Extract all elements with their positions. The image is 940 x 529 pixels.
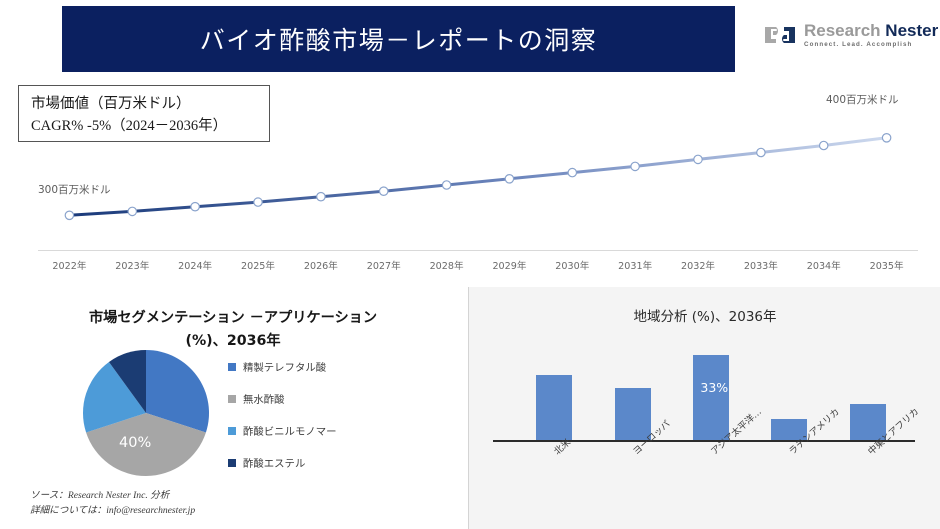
page-title: バイオ酢酸市場－レポートの洞察 xyxy=(200,21,598,57)
bar-chart-x-tick-labels: 北米ヨーロッパアジア太平洋…ラテンアメリカ中東とアフリカ xyxy=(515,443,907,513)
pie-legend-label: 酢酸エステル xyxy=(243,455,305,470)
line-chart-marker xyxy=(65,211,73,219)
line-chart-marker xyxy=(694,155,702,163)
line-chart-x-tick: 2028年 xyxy=(415,258,478,272)
bar-column: 33% xyxy=(693,347,729,440)
bar-data-label: 33% xyxy=(700,380,728,395)
line-chart-x-tick: 2025年 xyxy=(227,258,290,272)
pie-legend-item[interactable]: 精製テレフタル酸 xyxy=(228,359,337,374)
line-chart-x-tick: 2026年 xyxy=(289,258,352,272)
line-chart-x-tick: 2032年 xyxy=(667,258,730,272)
pie-chart-legend: 精製テレフタル酸無水酢酸酢酸ビニルモノマー酢酸エステル xyxy=(228,359,337,470)
line-chart-plot xyxy=(0,85,940,275)
line-chart-marker xyxy=(254,198,262,206)
legend-swatch-icon xyxy=(228,363,236,371)
legend-swatch-icon xyxy=(228,395,236,403)
logo-name: Research Nester xyxy=(804,22,938,39)
line-chart-x-tick: 2030年 xyxy=(541,258,604,272)
line-chart-x-tick: 2035年 xyxy=(855,258,918,272)
line-chart-marker xyxy=(568,168,576,176)
source-line-1: ソース：Research Nester Inc. 分析 xyxy=(30,489,195,504)
bar-chart-plot: 33% xyxy=(515,347,907,440)
pie-legend-item[interactable]: 酢酸ビニルモノマー xyxy=(228,423,337,438)
logo-tagline: Connect. Lead. Accomplish xyxy=(804,42,938,48)
line-chart-marker xyxy=(505,175,513,183)
pie-legend-label: 無水酢酸 xyxy=(243,391,285,406)
line-chart-x-tick: 2022年 xyxy=(38,258,101,272)
line-chart-marker xyxy=(442,181,450,189)
bar xyxy=(536,375,572,440)
pie-legend-item[interactable]: 酢酸エステル xyxy=(228,455,337,470)
line-chart-marker xyxy=(128,207,136,215)
bar-xlabel-cell: 中東とアフリカ xyxy=(850,443,886,513)
line-chart-start-label: 300百万米ドル xyxy=(38,182,111,197)
bar-chart-title: 地域分析 (%)、2036年 xyxy=(469,305,940,325)
source-note: ソース：Research Nester Inc. 分析 詳細については：info… xyxy=(30,489,195,519)
line-chart-x-tick: 2031年 xyxy=(604,258,667,272)
market-value-line-chart xyxy=(0,85,940,275)
bar-xlabel-cell: 北米 xyxy=(536,443,572,513)
line-chart-x-tick-labels: 2022年2023年2024年2025年2026年2027年2028年2029年… xyxy=(38,258,918,272)
regional-analysis-bar-panel: 地域分析 (%)、2036年 33% 北米ヨーロッパアジア太平洋…ラテンアメリカ… xyxy=(468,287,940,529)
line-chart-x-tick: 2023年 xyxy=(101,258,164,272)
logo-text: Research Nester Connect. Lead. Accomplis… xyxy=(804,22,938,48)
line-chart-x-tick: 2024年 xyxy=(164,258,227,272)
header-banner: バイオ酢酸市場－レポートの洞察 xyxy=(62,6,735,72)
pie-chart-title: 市場セグメンテーション －アプリケーション (%)、2036年 xyxy=(28,307,438,354)
pie-slice-data-label: 40% xyxy=(119,435,151,451)
line-chart-x-tick: 2033年 xyxy=(729,258,792,272)
bar-xlabel-cell: アジア太平洋… xyxy=(693,443,729,513)
pie-title-line1: 市場セグメンテーション －アプリケーション xyxy=(89,310,377,326)
source-line-2: 詳細については：info@researchnester.jp xyxy=(30,504,195,519)
line-chart-end-label: 400百万米ドル xyxy=(826,92,899,107)
line-chart-marker xyxy=(191,203,199,211)
line-chart-marker xyxy=(380,187,388,195)
line-chart-x-tick: 2034年 xyxy=(792,258,855,272)
bar-column xyxy=(771,347,807,440)
linked-chain-logo-icon xyxy=(763,22,797,48)
line-chart-marker xyxy=(757,148,765,156)
pie-legend-item[interactable]: 無水酢酸 xyxy=(228,391,337,406)
bar-column xyxy=(536,347,572,440)
pie-legend-label: 酢酸ビニルモノマー xyxy=(243,423,337,438)
slide-canvas: バイオ酢酸市場－レポートの洞察 Research Nester Connect.… xyxy=(0,0,940,529)
line-chart-x-tick: 2029年 xyxy=(478,258,541,272)
line-chart-marker xyxy=(317,193,325,201)
pie-legend-label: 精製テレフタル酸 xyxy=(243,359,326,374)
bar-column xyxy=(615,347,651,440)
bar xyxy=(693,355,729,440)
research-nester-logo: Research Nester Connect. Lead. Accomplis… xyxy=(763,16,935,54)
bar-xlabel-cell: ヨーロッパ xyxy=(615,443,651,513)
bar-xlabel-cell: ラテンアメリカ xyxy=(771,443,807,513)
bar-column xyxy=(850,347,886,440)
line-chart-marker xyxy=(820,141,828,149)
line-chart-x-tick: 2027年 xyxy=(352,258,415,272)
legend-swatch-icon xyxy=(228,459,236,467)
legend-swatch-icon xyxy=(228,427,236,435)
logo-name-nester: Nester xyxy=(885,21,938,40)
line-chart-marker xyxy=(631,162,639,170)
logo-name-research: Research xyxy=(804,21,881,40)
pie-chart-graphic xyxy=(82,349,210,477)
line-chart-marker xyxy=(882,134,890,142)
line-chart-x-axis xyxy=(38,250,918,251)
